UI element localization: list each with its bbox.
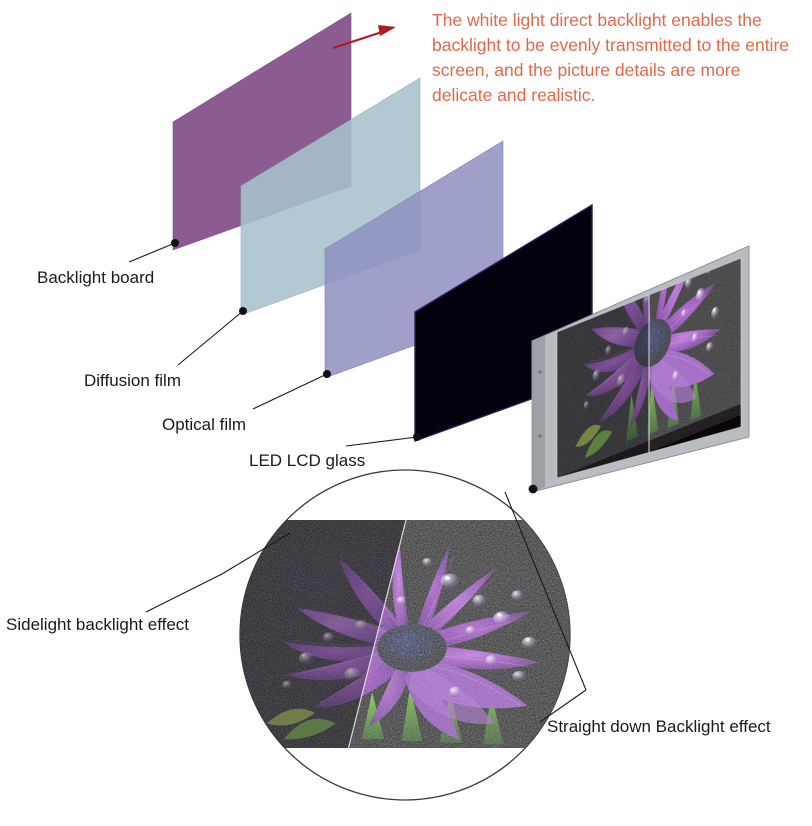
label-optical-film: Optical film: [162, 415, 246, 435]
magnified-screen-detail: [232, 470, 578, 800]
diagram-canvas: The white light direct backlight enables…: [0, 0, 812, 826]
label-straight-down-backlight-effect: Straight down Backlight effect: [547, 717, 771, 737]
label-sidelight-backlight-effect: Sidelight backlight effect: [6, 615, 189, 635]
label-led-lcd-glass: LED LCD glass: [249, 451, 365, 471]
diagram-svg: [0, 0, 812, 826]
label-backlight-board: Backlight board: [37, 268, 154, 288]
monitor-side-edge: [532, 336, 545, 492]
white-light-direct-backlight-note: The white light direct backlight enables…: [432, 8, 800, 108]
label-diffusion-film: Diffusion film: [84, 371, 181, 391]
